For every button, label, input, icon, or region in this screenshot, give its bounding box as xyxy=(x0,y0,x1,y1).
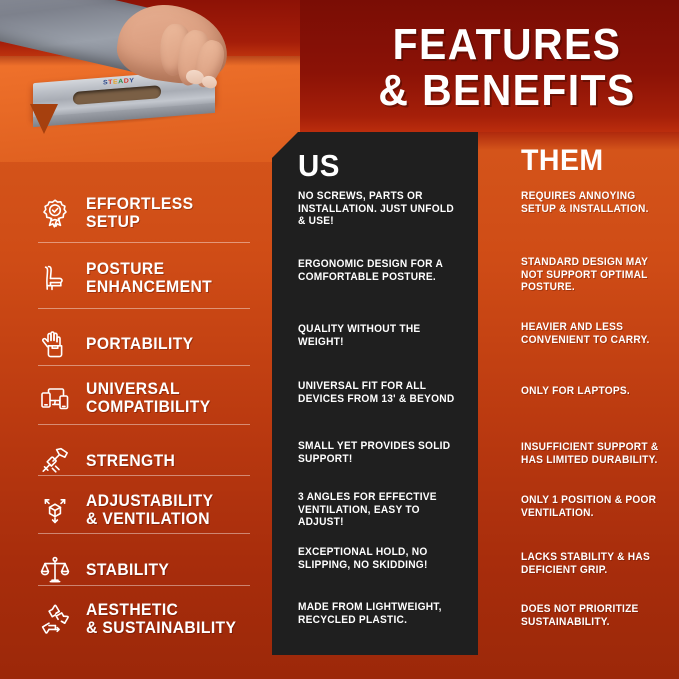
hammer-strength-icon xyxy=(38,444,72,478)
feature-divider xyxy=(38,475,250,476)
feature-item: POSTUREENHANCEMENT xyxy=(38,260,260,296)
them-cell: ONLY FOR LAPTOPS. xyxy=(521,385,665,398)
them-cell: INSUFFICIENT SUPPORT & HAS LIMITED DURAB… xyxy=(521,441,665,466)
pocket-hand-icon xyxy=(38,327,72,361)
feature-divider xyxy=(38,585,250,586)
them-cell: STANDARD DESIGN MAY NOT SUPPORT OPTIMAL … xyxy=(521,256,665,294)
multi-devices-icon xyxy=(38,381,72,415)
us-cell: SMALL YET PROVIDES SOLID SUPPORT! xyxy=(298,440,457,465)
feature-item: AESTHETIC& SUSTAINABILITY xyxy=(38,601,260,637)
them-cell: ONLY 1 POSITION & POOR VENTILATION. xyxy=(521,494,665,519)
balance-scale-icon xyxy=(38,553,72,587)
feature-item: STABILITY xyxy=(38,553,260,587)
feature-label: PORTABILITY xyxy=(86,335,194,353)
feature-item: EFFORTLESSSETUP xyxy=(38,195,260,231)
us-cell: UNIVERSAL FIT FOR ALL DEVICES FROM 13' &… xyxy=(298,380,457,405)
them-cell: REQUIRES ANNOYING SETUP & INSTALLATION. xyxy=(521,190,665,215)
feature-label: ADJUSTABILITY& VENTILATION xyxy=(86,492,213,528)
feature-label: AESTHETIC& SUSTAINABILITY xyxy=(86,601,236,637)
feature-label: STRENGTH xyxy=(86,452,175,470)
feature-label: STABILITY xyxy=(86,561,169,579)
us-cell: ERGONOMIC DESIGN FOR A COMFORTABLE POSTU… xyxy=(298,258,457,283)
feature-label: EFFORTLESSSETUP xyxy=(86,195,193,231)
feature-divider xyxy=(38,533,250,534)
feature-label: POSTUREENHANCEMENT xyxy=(86,260,212,296)
feature-divider xyxy=(38,242,250,243)
us-cell: EXCEPTIONAL HOLD, NO SLIPPING, NO SKIDDI… xyxy=(298,546,457,571)
feature-divider xyxy=(38,308,250,309)
them-cell: DOES NOT PRIORITIZE SUSTAINABILITY. xyxy=(521,603,665,628)
us-cell: QUALITY WITHOUT THE WEIGHT! xyxy=(298,323,457,348)
feature-item: STRENGTH xyxy=(38,444,260,478)
feature-label: UNIVERSALCOMPATIBILITY xyxy=(86,380,211,416)
us-cell: 3 ANGLES FOR EFFECTIVE VENTILATION, EASY… xyxy=(298,491,457,529)
feature-divider xyxy=(38,365,250,366)
us-cell: NO SCREWS, PARTS OR INSTALLATION. JUST U… xyxy=(298,190,457,228)
them-cell: HEAVIER AND LESS CONVENIENT TO CARRY. xyxy=(521,321,665,346)
feature-item: UNIVERSALCOMPATIBILITY xyxy=(38,380,260,416)
badge-check-icon xyxy=(38,196,72,230)
them-cell: LACKS STABILITY & HAS DEFICIENT GRIP. xyxy=(521,551,665,576)
us-cell: MADE FROM LIGHTWEIGHT, RECYCLED PLASTIC. xyxy=(298,601,457,626)
recycle-icon xyxy=(38,602,72,636)
feature-item: PORTABILITY xyxy=(38,327,260,361)
features-benefits-infographic: STEADY FEATURES & BENEFITS US THEM EFFOR… xyxy=(0,0,679,679)
feature-divider xyxy=(38,424,250,425)
seated-posture-icon xyxy=(38,261,72,295)
comparison-rows: EFFORTLESSSETUPNO SCREWS, PARTS OR INSTA… xyxy=(0,0,679,679)
feature-item: ADJUSTABILITY& VENTILATION xyxy=(38,492,260,528)
cube-arrows-icon xyxy=(38,493,72,527)
